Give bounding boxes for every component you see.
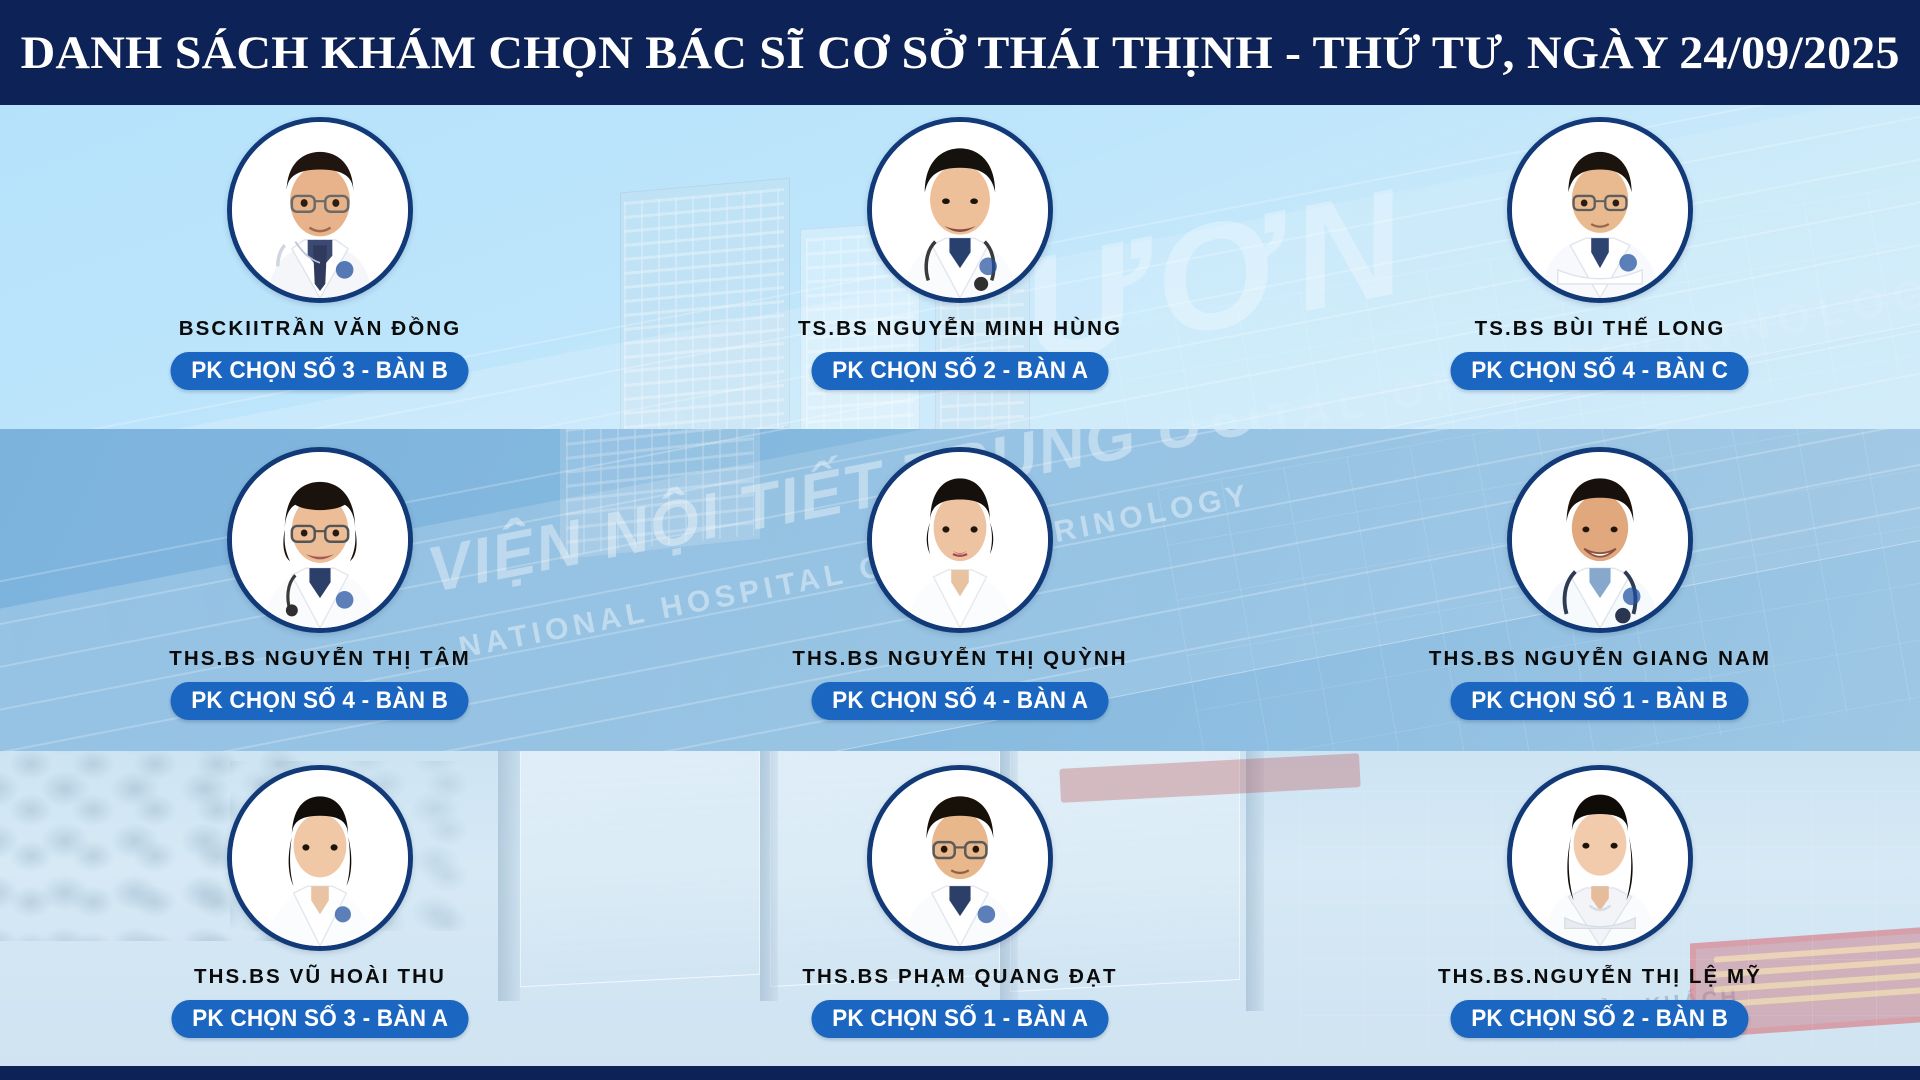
doctor-name: THS.BS NGUYỄN THỊ QUỲNH [792,647,1127,671]
doctor-card[interactable]: THS.BS NGUYỄN THỊ QUỲNH PK CHỌN SỐ 4 - B… [640,429,1280,751]
doctor-card[interactable]: TS.BS BÙI THẾ LONG PK CHỌN SỐ 4 - BÀN C [1280,105,1920,429]
doctor-card[interactable]: THS.BS NGUYỄN GIANG NAM PK CHỌN SỐ 1 - B… [1280,429,1920,751]
doctor-card[interactable]: THS.BS.NGUYỄN THỊ LỆ MỸ PK CHỌN SỐ 2 - B… [1280,751,1920,1066]
doctor-row-2: THS.BS NGUYỄN THỊ TÂM PK CHỌN SỐ 4 - BÀN… [0,429,1920,751]
avatar [867,765,1053,951]
avatar [1507,447,1693,633]
doctor-name: TS.BS BÙI THẾ LONG [1475,317,1726,341]
room-badge[interactable]: PK CHỌN SỐ 2 - BÀN A [811,352,1108,390]
page-header: DANH SÁCH KHÁM CHỌN BÁC SĨ CƠ SỞ THÁI TH… [0,0,1920,105]
page-title: DANH SÁCH KHÁM CHỌN BÁC SĨ CƠ SỞ THÁI TH… [20,26,1899,80]
doctor-card[interactable]: THS.BS VŨ HOÀI THU PK CHỌN SỐ 3 - BÀN A [0,751,640,1066]
doctor-card[interactable]: THS.BS PHẠM QUANG ĐẠT PK CHỌN SỐ 1 - BÀN… [640,751,1280,1066]
avatar [227,447,413,633]
doctor-name: THS.BS NGUYỄN THỊ TÂM [169,647,471,671]
room-badge[interactable]: PK CHỌN SỐ 1 - BÀN A [811,1000,1108,1038]
avatar [227,765,413,951]
doctor-name: THS.BS NGUYỄN GIANG NAM [1429,647,1771,671]
room-badge[interactable]: PK CHỌN SỐ 4 - BÀN A [811,682,1108,720]
avatar [227,117,413,303]
avatar [1507,117,1693,303]
room-badge[interactable]: PK CHỌN SỐ 4 - BÀN C [1451,352,1749,390]
room-badge[interactable]: PK CHỌN SỐ 4 - BÀN B [171,682,469,720]
doctor-name: THS.BS VŨ HOÀI THU [194,965,446,989]
poster-stage: ƯƠN TIONAL HOSPITAL OF ENDOCRINOLOGY VIỆ… [0,0,1920,1080]
page-footer [0,1066,1920,1080]
room-badge[interactable]: PK CHỌN SỐ 3 - BÀN B [171,352,469,390]
avatar [1507,765,1693,951]
doctor-row-1: BSCKIITRẦN VĂN ĐỒNG PK CHỌN SỐ 3 - BÀN B [0,105,1920,429]
room-badge[interactable]: PK CHỌN SỐ 3 - BÀN A [171,1000,468,1038]
doctor-name: TS.BS NGUYỄN MINH HÙNG [798,317,1122,341]
doctor-card[interactable]: BSCKIITRẦN VĂN ĐỒNG PK CHỌN SỐ 3 - BÀN B [0,105,640,429]
doctor-name: THS.BS PHẠM QUANG ĐẠT [802,965,1117,989]
doctor-name: BSCKIITRẦN VĂN ĐỒNG [179,317,462,341]
avatar [867,447,1053,633]
doctor-card[interactable]: THS.BS NGUYỄN THỊ TÂM PK CHỌN SỐ 4 - BÀN… [0,429,640,751]
doctor-card[interactable]: TS.BS NGUYỄN MINH HÙNG PK CHỌN SỐ 2 - BÀ… [640,105,1280,429]
doctor-row-3: THS.BS VŨ HOÀI THU PK CHỌN SỐ 3 - BÀN A [0,751,1920,1066]
doctor-name: THS.BS.NGUYỄN THỊ LỆ MỸ [1438,965,1762,989]
avatar [867,117,1053,303]
room-badge[interactable]: PK CHỌN SỐ 2 - BÀN B [1451,1000,1749,1038]
doctor-grid: BSCKIITRẦN VĂN ĐỒNG PK CHỌN SỐ 3 - BÀN B [0,105,1920,1066]
room-badge[interactable]: PK CHỌN SỐ 1 - BÀN B [1451,682,1749,720]
